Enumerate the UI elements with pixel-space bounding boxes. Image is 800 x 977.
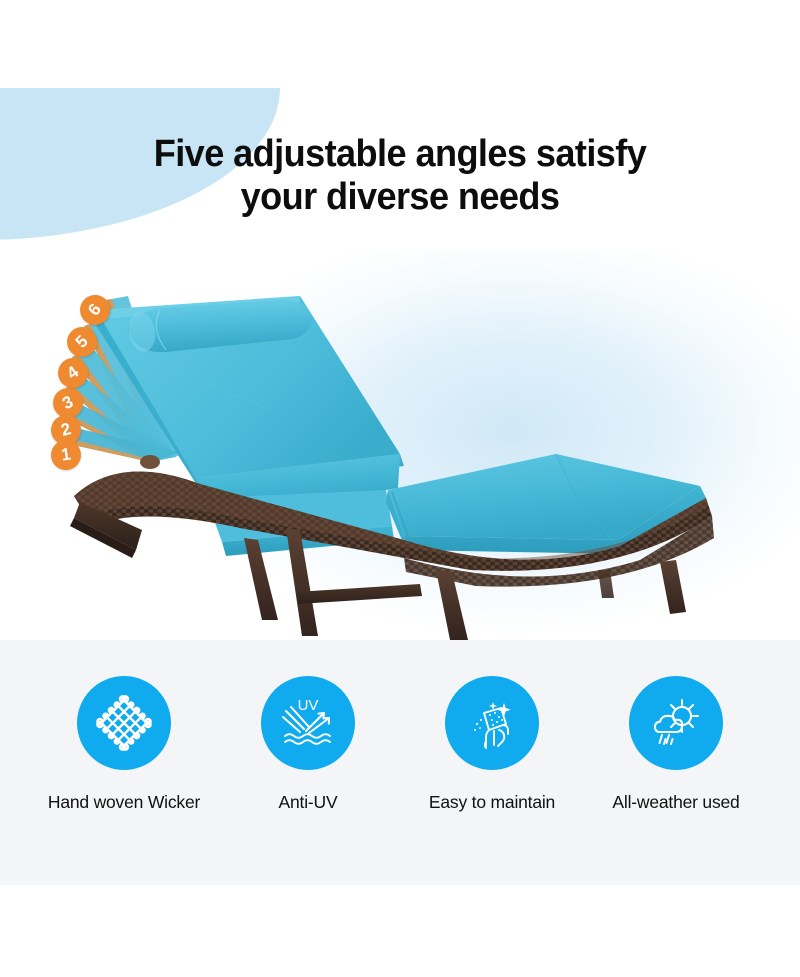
feature-label: All-weather used bbox=[612, 792, 739, 813]
feature-label: Hand woven Wicker bbox=[48, 792, 200, 813]
feature-label: Anti-UV bbox=[279, 792, 338, 813]
feature-item-easy-to-maintain: Easy to maintain bbox=[400, 676, 584, 813]
feature-label: Easy to maintain bbox=[429, 792, 555, 813]
feature-item-anti-uv: UV Anti-UV bbox=[216, 676, 400, 813]
uv-icon-text: UV bbox=[298, 697, 319, 714]
angle-badge-1: 1 bbox=[49, 438, 83, 472]
hand-cleaning-cloth-icon bbox=[445, 676, 539, 770]
angle-badge-5: 5 bbox=[61, 321, 103, 363]
feature-list: Hand woven Wicker UV Anti-UV bbox=[0, 676, 800, 876]
woven-wicker-icon bbox=[77, 676, 171, 770]
angle-badge-6: 6 bbox=[74, 289, 116, 331]
feature-item-all-weather-used: All-weather used bbox=[584, 676, 768, 813]
sun-cloud-rain-icon bbox=[629, 676, 723, 770]
uv-protection-icon: UV bbox=[261, 676, 355, 770]
feature-item-hand-woven-wicker: Hand woven Wicker bbox=[32, 676, 216, 813]
product-infographic: Five adjustable angles satisfy your dive… bbox=[0, 0, 800, 977]
